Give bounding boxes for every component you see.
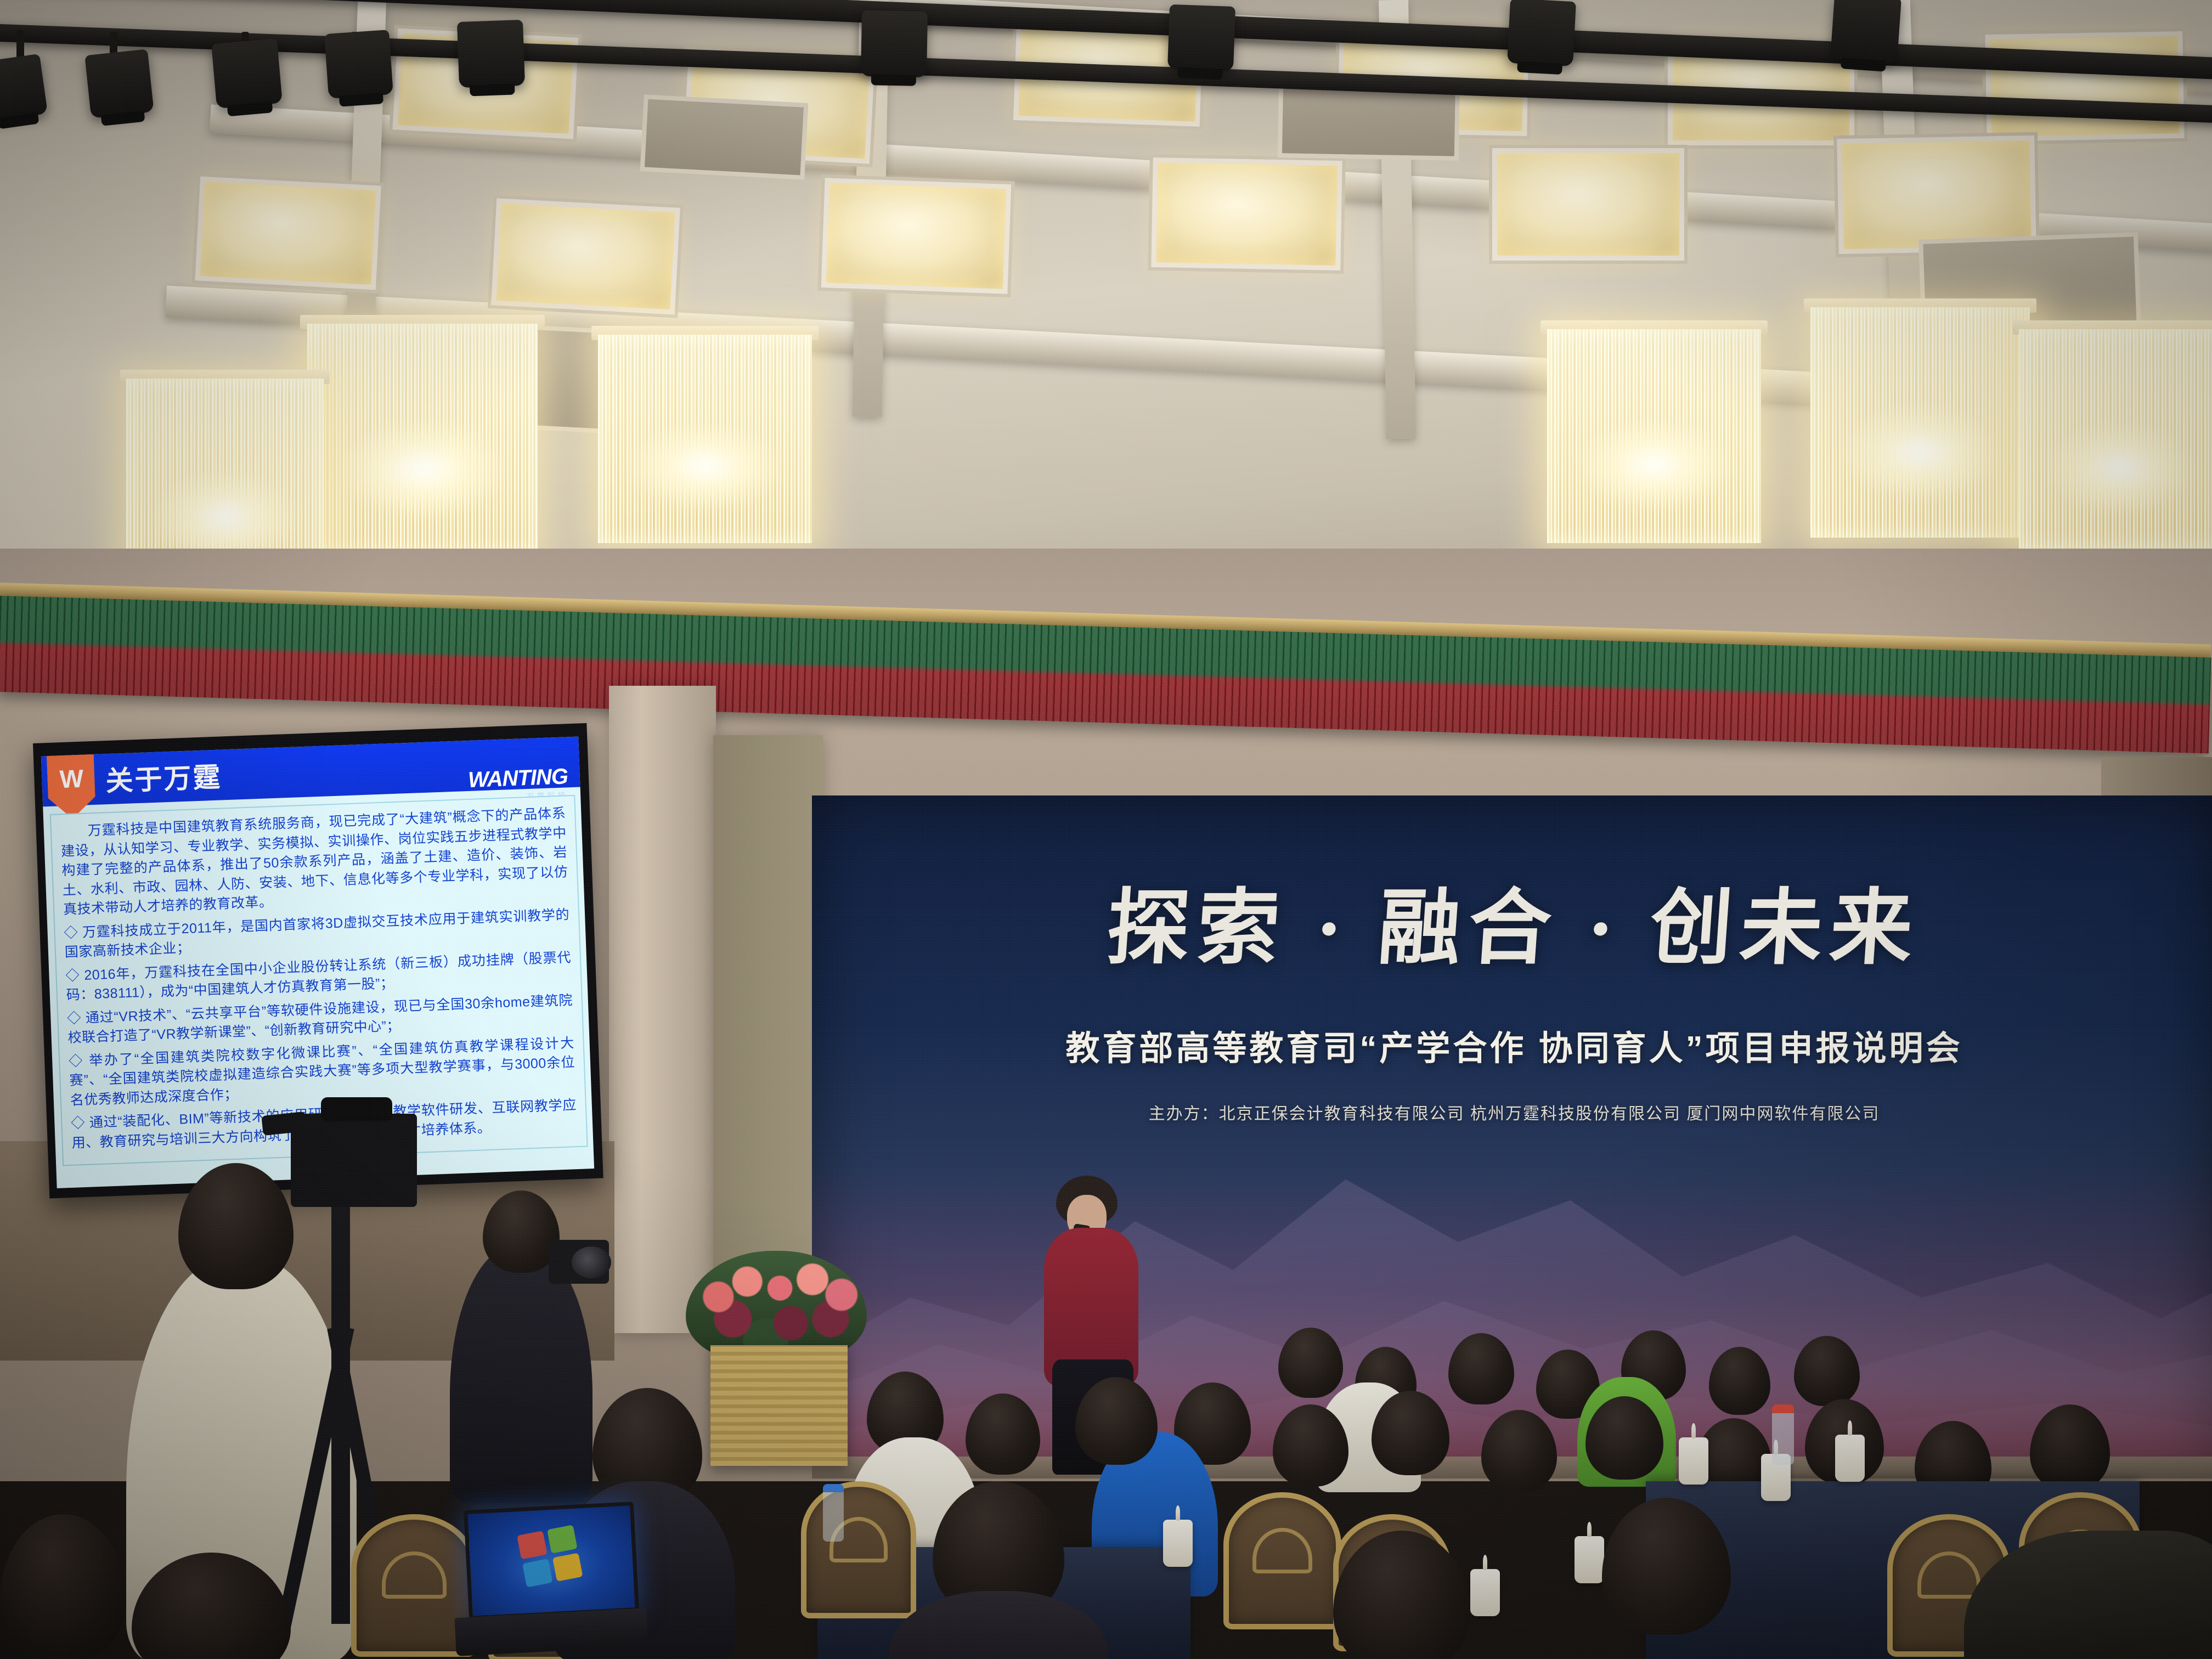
windows-logo-icon (517, 1524, 585, 1589)
ceiling-light-panel (1985, 31, 2184, 142)
stage-spotlight (84, 49, 154, 118)
slide-body: 万霆科技是中国建筑教育系统服务商，现已完成了“大建筑”概念下的产品体系建设，从认… (50, 795, 588, 1166)
banquet-chair (1223, 1492, 1341, 1629)
wanting-logo-pin-icon: W (47, 751, 96, 820)
ceiling-light-panel (491, 198, 680, 314)
organizers-list: 北京正保会计教育科技有限公司 杭州万霆科技股份有限公司 厦门网中网软件有限公司 (1219, 1105, 1880, 1123)
crystal-chandelier (598, 335, 812, 543)
stage-spotlight (1507, 0, 1576, 66)
conference-hall-photo: W 关于万霆 WANTING 万霆科技 万霆科技是中国建筑教育系统服务商，现已完… (0, 0, 2212, 1659)
stage-spotlight (324, 30, 393, 99)
photographer-body (450, 1245, 592, 1503)
slide-header-bar: W 关于万霆 WANTING 万霆科技 (41, 737, 580, 807)
crystal-chandelier (1810, 307, 2030, 538)
ceiling-light-panel (1151, 157, 1342, 270)
crystal-chandelier (1547, 329, 1761, 543)
stage-spotlight (211, 38, 283, 109)
stage-spotlight (1830, 0, 1901, 64)
water-bottle (823, 1484, 844, 1542)
flower-planter (710, 1345, 848, 1466)
banner-subtitle: 教育部高等教育司“产学合作 协同育人”项目申报说明会 (812, 1020, 2212, 1070)
crystal-chandelier (2019, 329, 2212, 549)
brand-logo-text: WANTING (467, 764, 568, 793)
stage-spotlight (1167, 4, 1235, 71)
slide-paragraph: 万霆科技是中国建筑教育系统服务商，现已完成了“大建筑”概念下的产品体系建设，从认… (60, 804, 569, 920)
ceiling-light-panel (1492, 148, 1684, 261)
wall-pillar (609, 686, 716, 1333)
stage-spotlight (861, 10, 928, 77)
video-camera (291, 1114, 417, 1207)
crystal-chandelier (307, 324, 538, 554)
camera-lens-icon (321, 1097, 392, 1121)
teacup (1835, 1435, 1865, 1482)
ceiling-panel (640, 94, 809, 180)
teacup (1679, 1437, 1708, 1485)
stage-spotlight (457, 20, 525, 88)
slide-header-title: 关于万霆 (105, 755, 222, 799)
teacup (1470, 1569, 1500, 1616)
ceiling-light-panel (195, 176, 381, 290)
stage-spotlight (0, 54, 48, 122)
laptop-screen (464, 1502, 639, 1620)
banquet-chair (801, 1481, 916, 1618)
water-bottle (1772, 1404, 1794, 1465)
banner-organizers: 主办方：北京正保会计教育科技有限公司 杭州万霆科技股份有限公司 厦门网中网软件有… (812, 1100, 2212, 1124)
dslr-lens-icon (572, 1246, 611, 1278)
audience-head (0, 1514, 126, 1659)
ceiling-light-panel (821, 178, 1012, 294)
teacup (1163, 1520, 1193, 1567)
teacup (1575, 1536, 1604, 1583)
banner-calligraphy-title: 探索 · 融合 · 创未来 (812, 861, 2212, 980)
organizers-label: 主办方： (1149, 1105, 1219, 1123)
